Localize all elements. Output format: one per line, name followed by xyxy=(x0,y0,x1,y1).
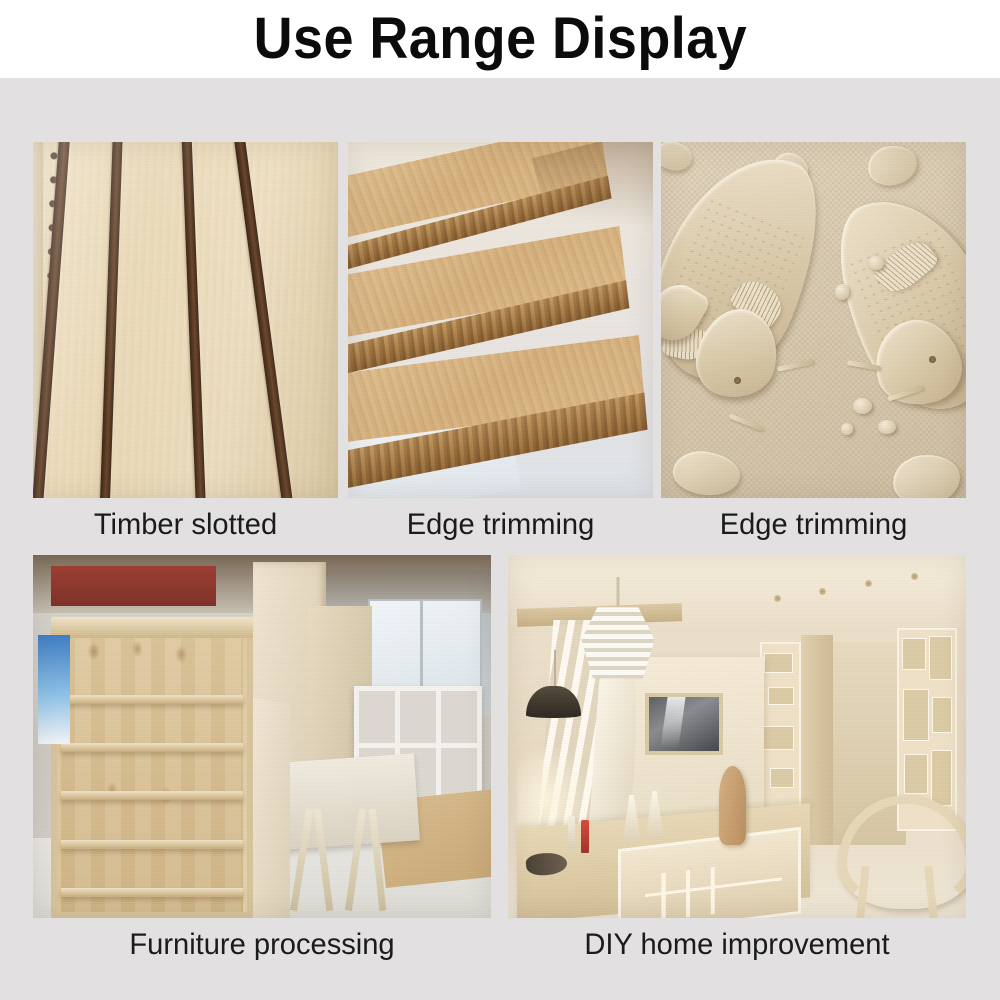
bookcase-shelf xyxy=(61,695,242,704)
lattice-bar xyxy=(904,754,928,795)
bookcase-shelf xyxy=(61,791,242,800)
photo-edge-trimming-relief xyxy=(661,142,966,498)
use-range-display-page: Use Range Display Timber slotted xyxy=(0,0,1000,1000)
wood-lattice-screen-left xyxy=(760,642,801,816)
photo-timber-slotted xyxy=(33,142,338,498)
photo-edge-trimming-boards xyxy=(348,142,653,498)
workshop-window xyxy=(368,599,482,690)
decor-bottle-red xyxy=(581,820,588,853)
lattice-bar xyxy=(768,687,794,704)
bookcase-back-panel xyxy=(61,635,242,912)
sawhorse-leg xyxy=(290,809,313,910)
lattice-bar xyxy=(929,636,952,681)
title-band: Use Range Display xyxy=(0,0,1000,78)
pine-bookcase xyxy=(51,617,253,918)
caption-timber-slotted: Timber slotted xyxy=(38,508,334,542)
chandelier-rod xyxy=(616,577,619,612)
chair-backrest xyxy=(838,795,966,909)
sawhorse-leg xyxy=(345,809,366,911)
caption-edge-trimming-relief: Edge trimming xyxy=(666,508,962,542)
lattice-bar xyxy=(763,726,794,750)
bookcase-top-rail xyxy=(51,617,253,638)
chandelier-shade xyxy=(581,607,654,678)
koi-fish-right-eye xyxy=(929,356,936,363)
caption-furniture-processing: Furniture processing xyxy=(40,928,484,962)
bookcase-shelf xyxy=(61,840,242,849)
lattice-bar xyxy=(903,689,929,742)
photo-furniture-processing xyxy=(33,555,491,918)
bookcase-shelf xyxy=(61,888,242,897)
photo-diy-home-improvement xyxy=(508,555,966,918)
cubby-cell xyxy=(441,691,477,743)
sawhorse-stand xyxy=(289,809,390,911)
sawhorse-leg xyxy=(369,809,387,911)
decor-bottle-white xyxy=(568,816,575,849)
wall-poster xyxy=(38,635,70,744)
wooden-vase xyxy=(719,766,746,846)
carved-bubble-5 xyxy=(878,420,896,434)
pendant-chandelier xyxy=(581,577,654,679)
sawhorse-leg xyxy=(314,809,333,911)
caption-edge-trimming-boards: Edge trimming xyxy=(353,508,649,542)
lattice-bar xyxy=(902,638,926,671)
bookcase-shelf xyxy=(61,743,242,752)
caption-diy-home-improvement: DIY home improvement xyxy=(515,928,959,962)
page-title: Use Range Display xyxy=(253,10,747,68)
lattice-bar xyxy=(770,768,794,789)
cubby-cell xyxy=(400,691,436,743)
wishbone-chair xyxy=(838,795,957,918)
lattice-bar xyxy=(932,697,952,734)
photo-sheen xyxy=(33,142,338,498)
lattice-bar xyxy=(764,653,793,674)
ceiling-spotlight xyxy=(774,595,781,602)
cubby-cell xyxy=(359,691,395,743)
